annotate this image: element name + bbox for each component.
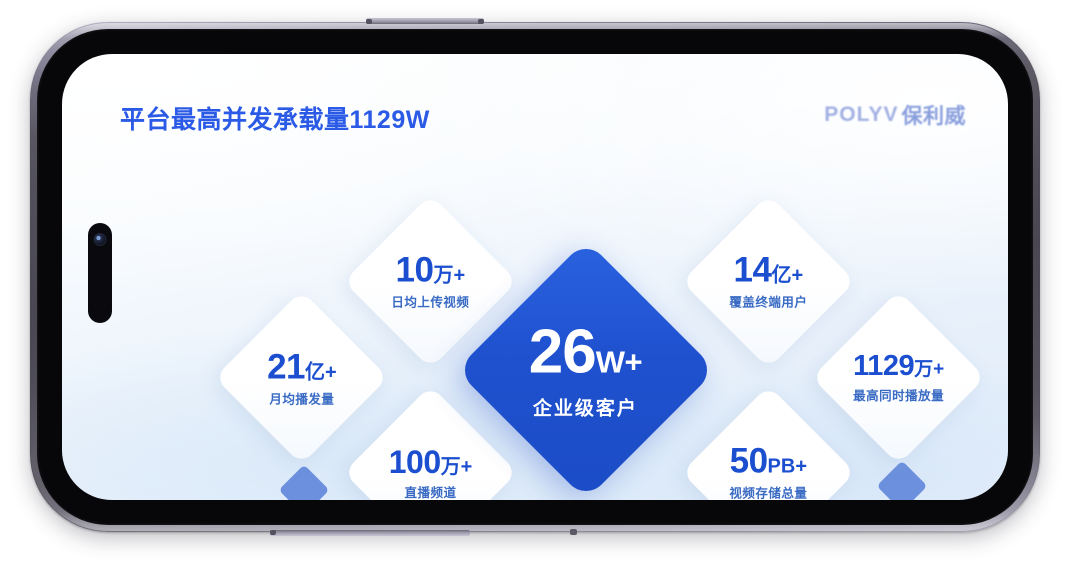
power-button-nub-left [270,530,276,535]
stat-label: 最高同时播放量 [853,390,944,403]
stat-value: 100 [389,446,441,478]
stat-value: 10 [396,253,434,288]
stat-label: 直播频道 [389,487,473,500]
stat-label: 覆盖终端用户 [729,297,807,310]
stat-value: 26 [529,318,596,387]
decorative-diamond-left [279,465,330,500]
stat-card-peak-concurrent[interactable]: 1129万+ 最高同时播放量 [812,291,986,465]
stat-card-monthly-playback[interactable]: 21亿+ 月均播发量 [215,291,389,465]
decorative-diamond-right [877,461,928,500]
stat-unit: PB+ [768,456,807,478]
stat-unit: 万+ [914,359,944,380]
stat-label: 月均播发量 [267,393,337,406]
infographic-slide: 平台最高并发承载量1129W POLYV 保利威 21亿+ [62,54,1008,500]
stat-label: 日均上传视频 [391,297,469,310]
stat-unit: 万+ [434,265,466,287]
volume-button[interactable] [366,18,484,24]
stat-label: 视频存储总量 [729,488,807,500]
power-button[interactable] [270,530,470,536]
stat-value: 1129 [853,352,914,381]
stat-value: 50 [730,444,768,479]
volume-button-nub-left [366,19,372,24]
stat-unit: 亿+ [305,361,337,383]
stat-label: 企业级客户 [529,400,642,419]
dynamic-island [88,223,112,323]
stat-unit: 亿+ [772,265,804,287]
phone-device-frame: 平台最高并发承载量1129W POLYV 保利威 21亿+ [30,22,1040,532]
device-bezel: 平台最高并发承载量1129W POLYV 保利威 21亿+ [37,29,1033,525]
stat-value: 21 [267,349,305,384]
stat-unit: W+ [596,345,642,380]
device-screen[interactable]: 平台最高并发承载量1129W POLYV 保利威 21亿+ [62,54,1008,500]
front-camera-icon [95,234,106,245]
stat-unit: 万+ [441,456,473,478]
stat-card-covered-users[interactable]: 14亿+ 覆盖终端用户 [682,195,856,369]
power-button-nub-right [570,529,577,535]
stat-card-video-storage[interactable]: 50PB+ 视频存储总量 [682,386,856,500]
stat-value: 14 [734,253,772,288]
volume-button-nub-right [478,19,484,24]
stat-diamond-stage: 21亿+ 月均播发量 10万+ 日均上传视频 [62,54,1008,500]
